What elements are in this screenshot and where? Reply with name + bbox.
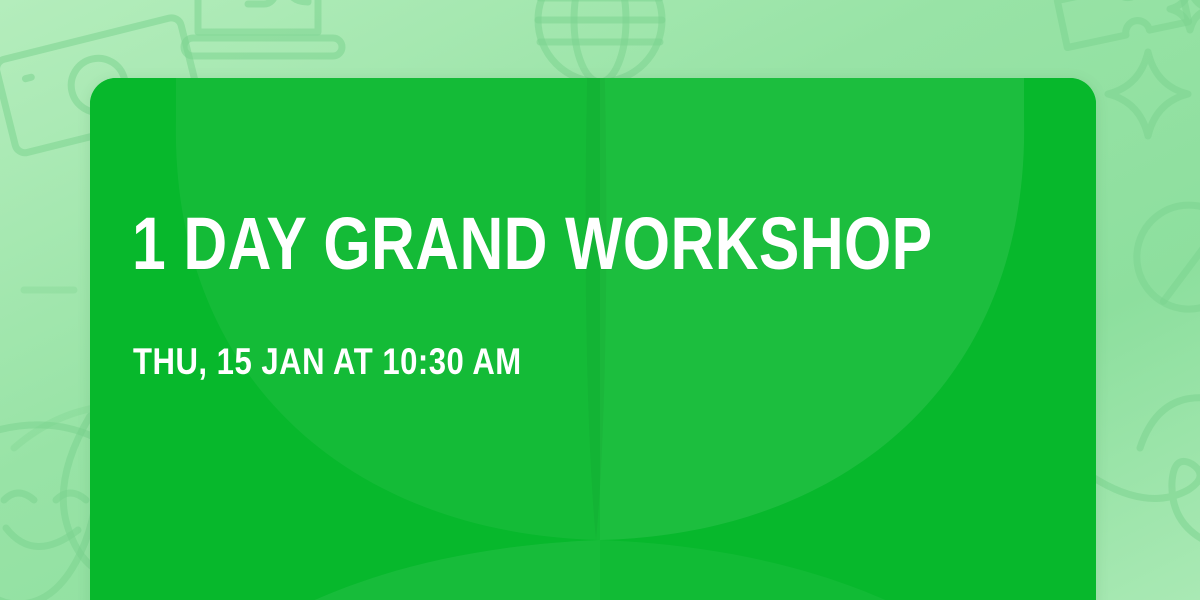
sparkle-small-icon xyxy=(1170,0,1200,30)
event-card-content: 1 DAY GRAND WORKSHOP THU, 15 JAN AT 10:3… xyxy=(132,78,1096,600)
ticket-icon xyxy=(1057,0,1188,48)
event-title: 1 DAY GRAND WORKSHOP xyxy=(132,207,933,281)
globe-icon xyxy=(538,0,662,82)
microphone-icon xyxy=(1127,185,1200,350)
laptop-icon xyxy=(184,0,342,56)
event-card[interactable]: 1 DAY GRAND WORKSHOP THU, 15 JAN AT 10:3… xyxy=(90,78,1096,600)
swirl-line-top-icon xyxy=(1140,398,1200,448)
sparkle-icon xyxy=(1108,52,1188,136)
event-datetime: THU, 15 JAN AT 10:30 AM xyxy=(133,343,522,380)
swirl-line-icon xyxy=(1082,461,1200,544)
event-banner: 1 DAY GRAND WORKSHOP THU, 15 JAN AT 10:3… xyxy=(0,0,1200,600)
